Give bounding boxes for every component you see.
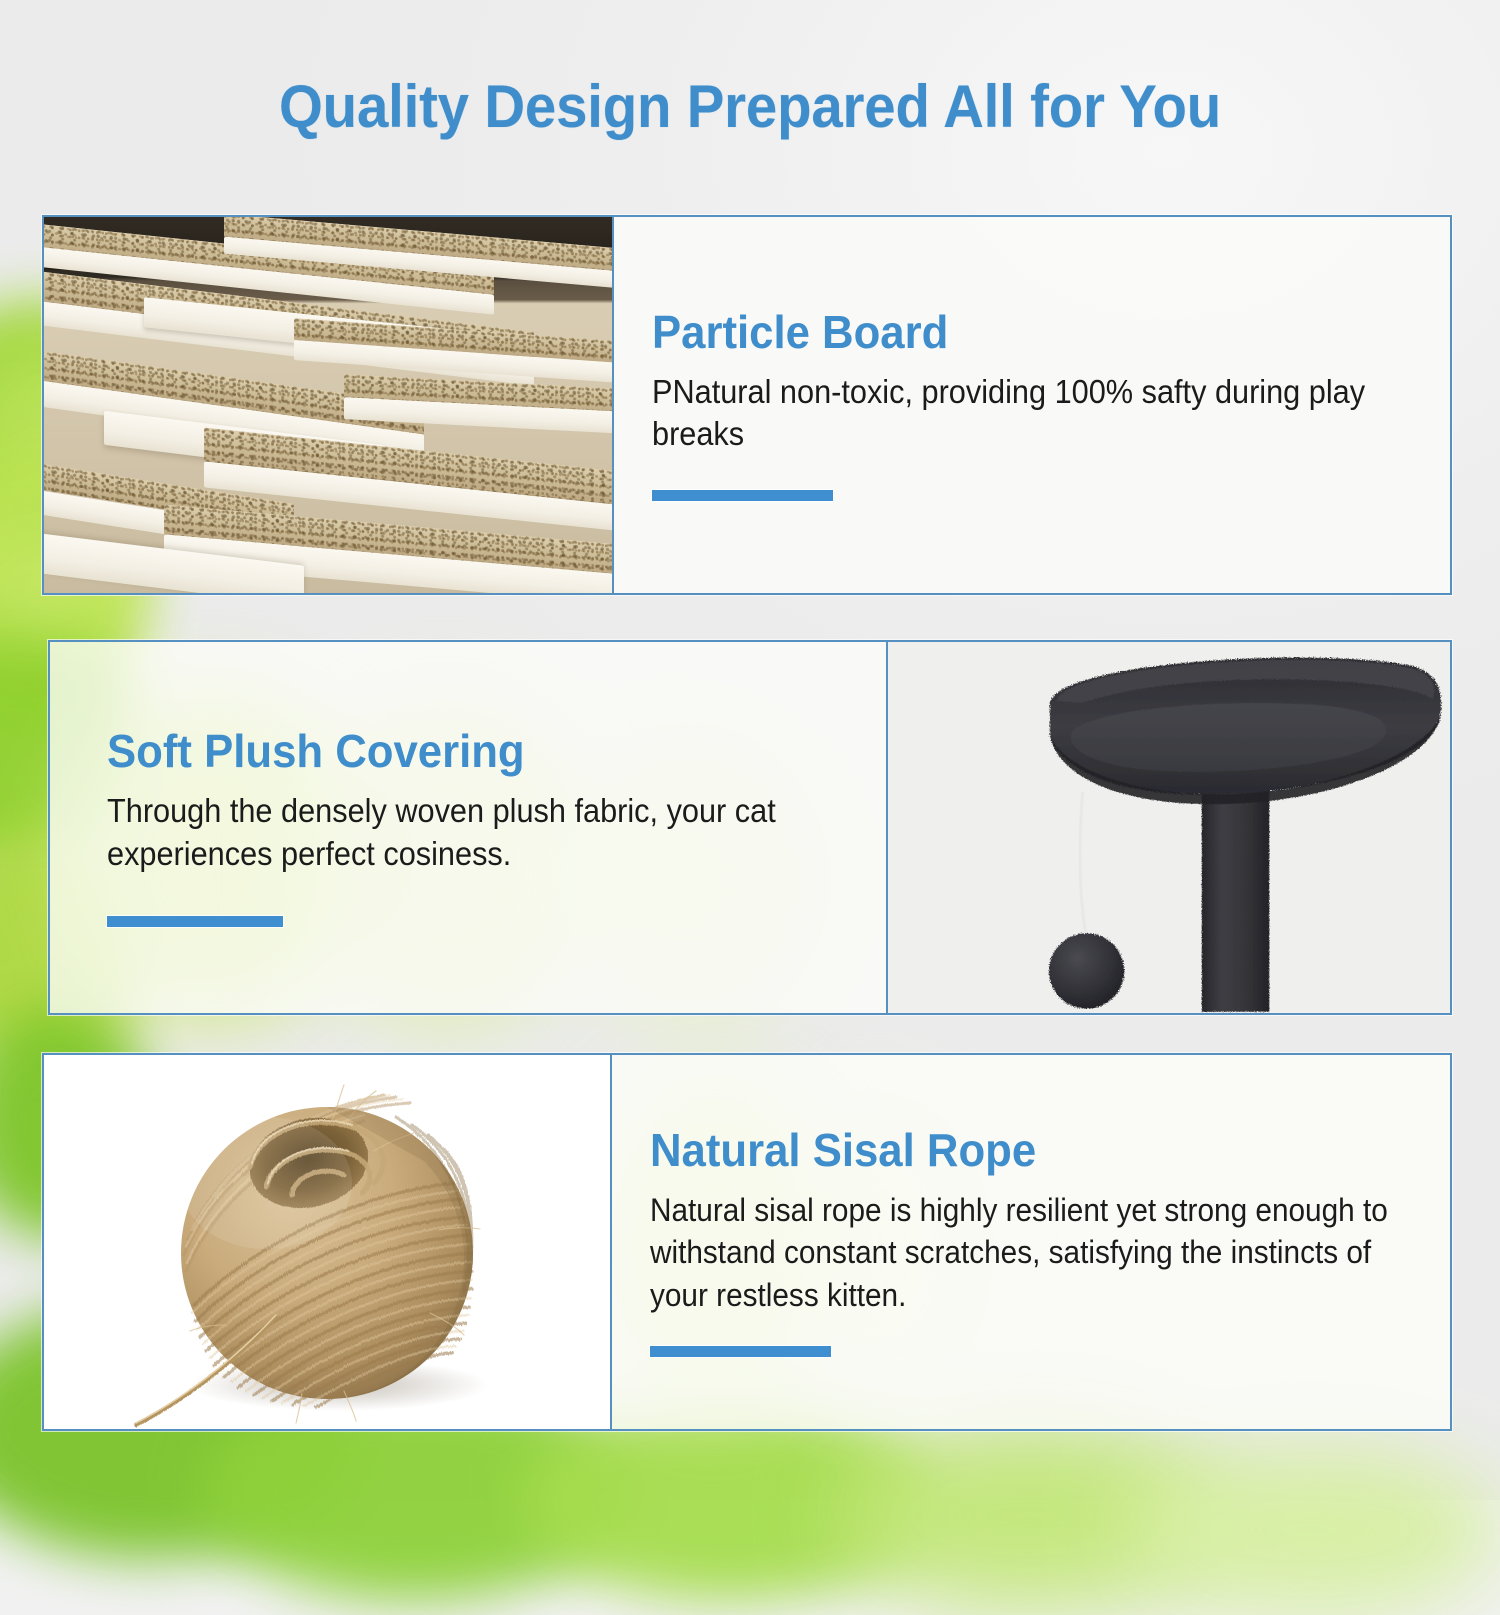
- card-body: Natural sisal rope is highly resilient y…: [650, 1189, 1394, 1317]
- feature-card-particle-board: Particle Board PNatural non-toxic, provi…: [42, 215, 1452, 595]
- soft-plush-text: Soft Plush Covering Through the densely …: [50, 642, 886, 1013]
- card-heading: Particle Board: [652, 309, 1410, 357]
- feature-card-natural-sisal-rope: Natural Sisal Rope Natural sisal rope is…: [42, 1053, 1452, 1431]
- sisal-twine-ball-illustration: [44, 1055, 610, 1429]
- particle-board-image: [44, 217, 612, 593]
- sisal-rope-text: Natural Sisal Rope Natural sisal rope is…: [610, 1055, 1450, 1429]
- page-title: Quality Design Prepared All for You: [45, 72, 1455, 141]
- cat-tree-perch-illustration: [888, 642, 1450, 1013]
- card-heading: Soft Plush Covering: [107, 728, 847, 776]
- accent-bar: [650, 1346, 831, 1357]
- card-body: Through the densely woven plush fabric, …: [107, 790, 814, 876]
- particle-board-text: Particle Board PNatural non-toxic, provi…: [612, 217, 1450, 593]
- foliage-blob: [1120, 1445, 1500, 1615]
- accent-bar: [107, 916, 283, 927]
- accent-bar: [652, 490, 833, 501]
- feature-card-soft-plush-covering: Soft Plush Covering Through the densely …: [48, 640, 1452, 1015]
- card-heading: Natural Sisal Rope: [650, 1127, 1410, 1175]
- card-body: PNatural non-toxic, providing 100% safty…: [652, 371, 1394, 457]
- sisal-rope-image: [44, 1055, 610, 1429]
- soft-plush-image: [886, 642, 1450, 1013]
